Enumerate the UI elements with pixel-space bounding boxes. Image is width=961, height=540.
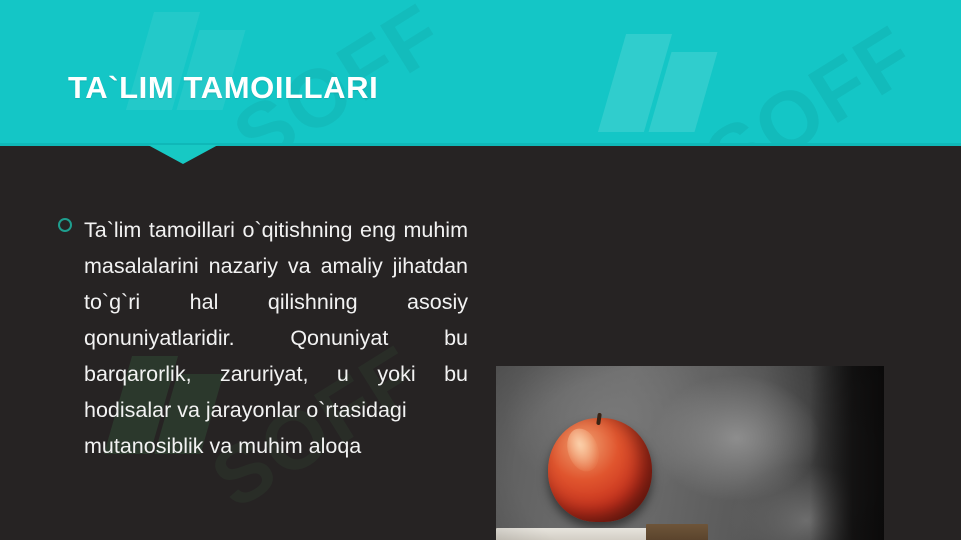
circle-outline-bullet-icon [58,218,72,232]
photo-vignette [496,366,884,540]
slide-body: SOFF Ta`lim tamoillari o`qitishning eng … [0,146,961,540]
bullet-list-item: Ta`lim tamoillari o`qitishning eng muhim… [58,212,468,464]
page-title: TA`LIM TAMOILLARI [68,66,848,110]
body-paragraph: Ta`lim tamoillari o`qitishning eng muhim… [58,212,468,464]
body-paragraph-main: Ta`lim tamoillari o`qitishning eng muhim… [84,218,468,422]
slide-header-band: SOFF SOFF TA`LIM TAMOILLARI [0,0,961,146]
apple-on-books-photo [496,366,884,540]
body-paragraph-last-line: mutanosiblik va muhim aloqa [84,428,468,464]
presentation-slide: SOFF SOFF TA`LIM TAMOILLARI SOFF [0,0,961,540]
